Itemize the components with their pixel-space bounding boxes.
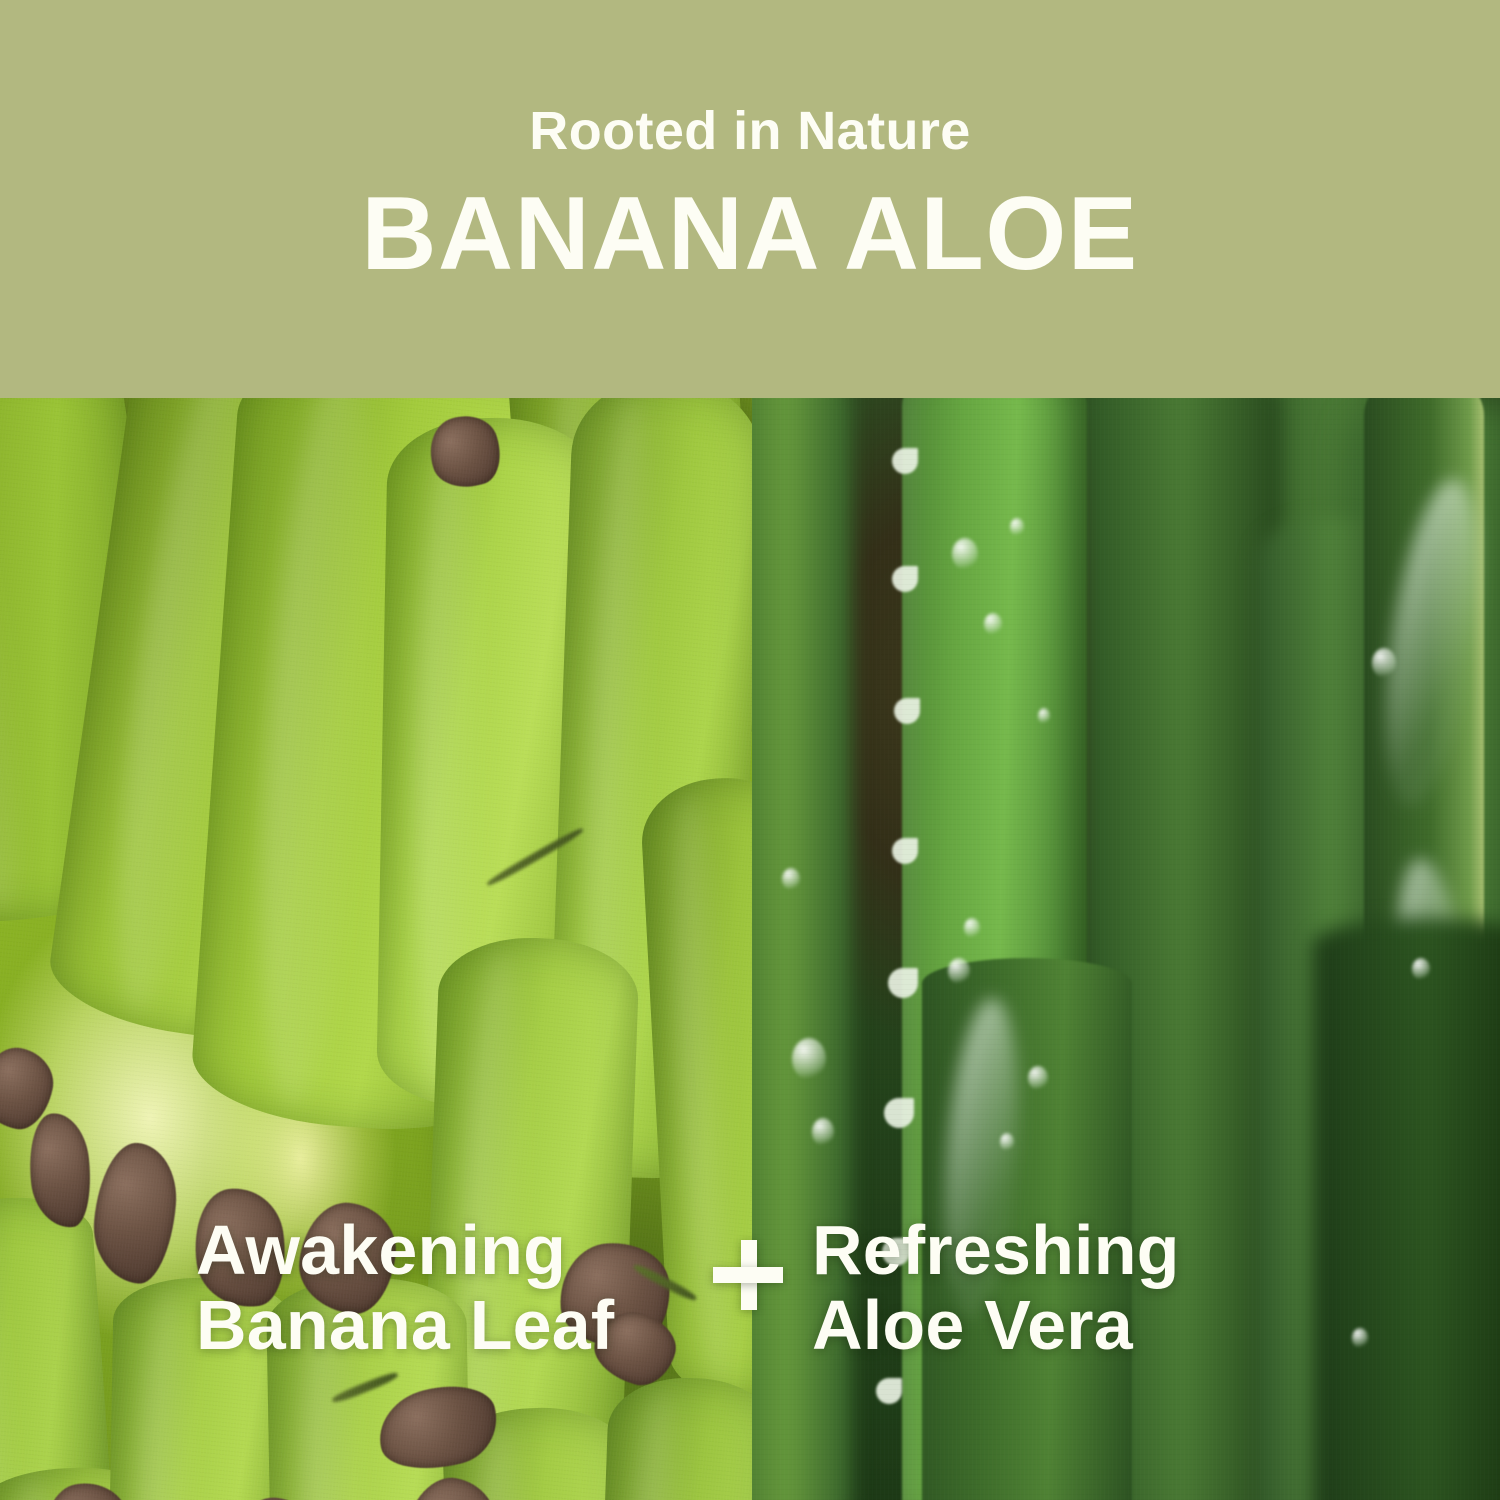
plus-icon bbox=[713, 1240, 783, 1310]
left-caption: Awakening Banana Leaf bbox=[196, 1213, 614, 1363]
photo-row: Awakening Banana Leaf bbox=[0, 398, 1500, 1500]
aloe-photo-pane: Refreshing Aloe Vera bbox=[752, 398, 1500, 1500]
product-ingredient-banner: Rooted in Nature BANANA ALOE bbox=[0, 0, 1500, 1500]
page-title: BANANA ALOE bbox=[361, 182, 1138, 286]
header-band: Rooted in Nature BANANA ALOE bbox=[0, 0, 1500, 398]
eyebrow-text: Rooted in Nature bbox=[529, 104, 970, 158]
banana-photo-pane: Awakening Banana Leaf bbox=[0, 398, 752, 1500]
right-caption: Refreshing Aloe Vera bbox=[812, 1213, 1180, 1363]
